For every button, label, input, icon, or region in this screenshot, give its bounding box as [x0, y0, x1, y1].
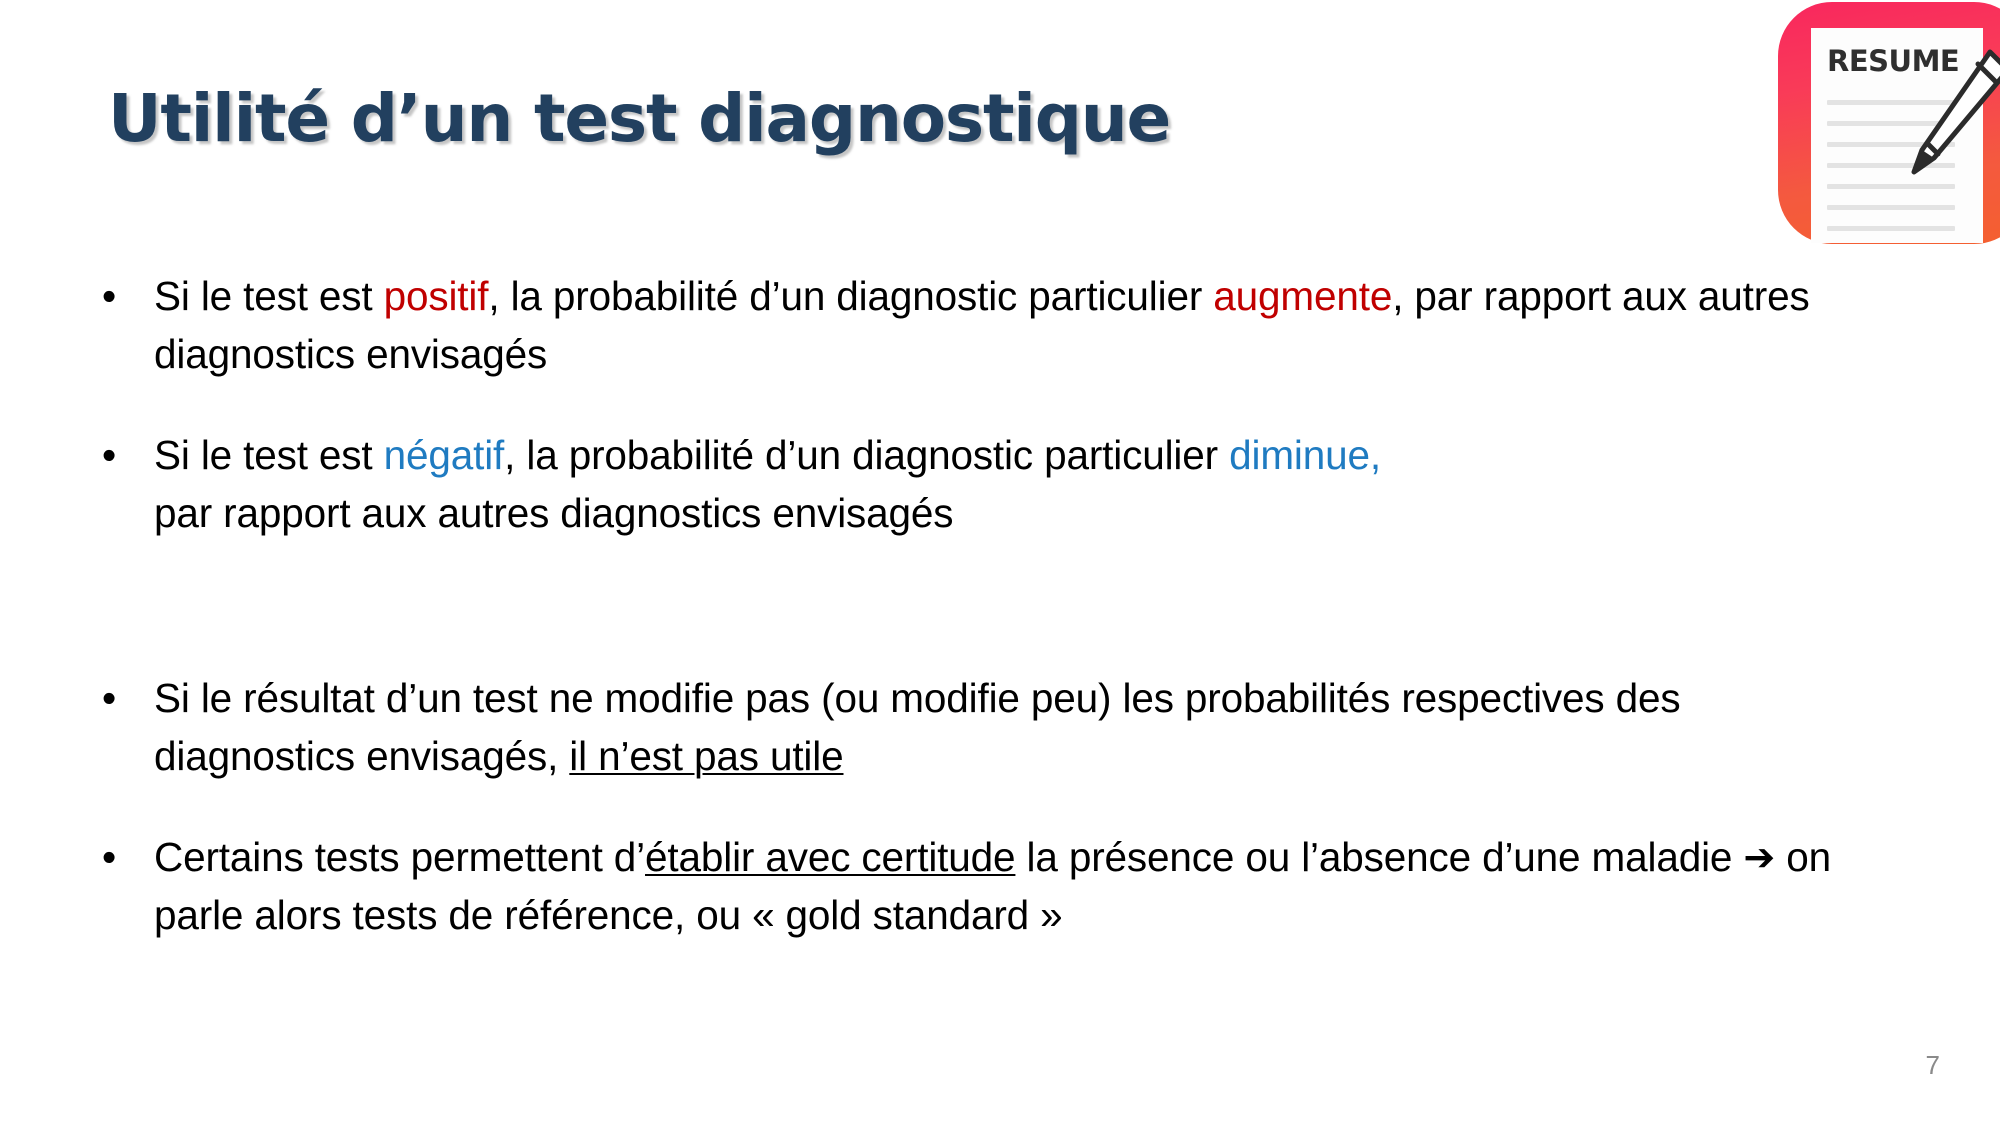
slide-canvas: Utilité d’un test diagnostique RESUME — [0, 0, 2000, 1125]
bullet-glyph: • — [102, 427, 116, 485]
underlined-il-nest-pas-utile: il n’est pas utile — [569, 733, 843, 779]
page-title: Utilité d’un test diagnostique — [108, 84, 1488, 153]
page-number: 7 — [1926, 1050, 1940, 1081]
resume-app-icon: RESUME — [1778, 2, 2000, 244]
highlight-diminue: diminue, — [1229, 432, 1381, 478]
bullet-glyph: • — [102, 829, 116, 887]
highlight-augmente: augmente — [1213, 273, 1392, 319]
pencil-icon — [1894, 46, 2000, 186]
bullet-glyph: • — [102, 268, 116, 326]
bullet-text-positif: Si le test est positif, la probabilité d… — [154, 273, 1821, 377]
highlight-positif: positif — [384, 273, 489, 319]
bullet-list: •Si le test est positif, la probabilité … — [96, 268, 1886, 970]
logo-ruled-line — [1827, 205, 1955, 210]
list-item: •Si le test est négatif, la probabilité … — [96, 427, 1886, 542]
logo-ruled-line — [1827, 226, 1955, 231]
list-item: •Si le test est positif, la probabilité … — [96, 268, 1886, 383]
highlight-negatif: négatif — [384, 432, 505, 478]
list-item: •Si le résultat d’un test ne modifie pas… — [96, 670, 1886, 785]
bullet-glyph: • — [102, 670, 116, 728]
bullet-text-non-utile: Si le résultat d’un test ne modifie pas … — [154, 675, 1692, 779]
bullet-text-gold-standard: Certains tests permettent d’établir avec… — [154, 834, 1842, 938]
underlined-etablir-avec-certitude: établir avec certitude — [645, 834, 1015, 880]
list-item: •Certains tests permettent d’établir ave… — [96, 829, 1886, 944]
right-arrow-icon: ➔ — [1743, 831, 1775, 885]
bullet-text-negatif: Si le test est négatif, la probabilité d… — [154, 432, 1381, 536]
